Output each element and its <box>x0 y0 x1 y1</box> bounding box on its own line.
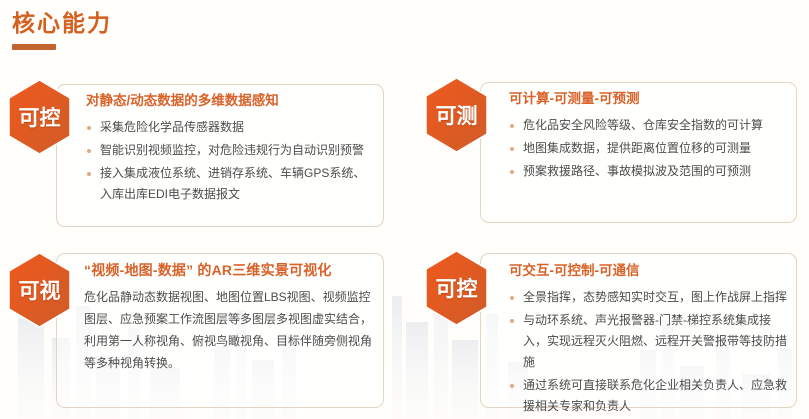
card-heading: 可交互-可控制-可通信 <box>509 262 794 280</box>
badge-label: 可测 <box>424 77 489 153</box>
page-title-block: 核心能力 <box>12 8 112 50</box>
card-bullet-list: 危化品安全风险等级、仓库安全指数的可计算 地图集成数据，提供距离位置位移的可测量… <box>509 115 791 182</box>
list-item: 采集危险化学品传感器数据 <box>86 117 376 138</box>
list-item: 危化品安全风险等级、仓库安全指数的可计算 <box>509 115 791 136</box>
card-content: 可交互-可控制-可通信 全景指挥，态势感知实时交互，图上作战屏上指挥 与动环系统… <box>509 262 794 419</box>
list-item: 全景指挥，态势感知实时交互，图上作战屏上指挥 <box>509 287 794 308</box>
card-heading: 可计算-可测量-可预测 <box>509 90 791 108</box>
list-item: 与动环系统、声光报警器-门禁-梯控系统集成接入，实现远程灭火阻燃、远程开关警报带… <box>509 310 794 373</box>
title-underline-rule <box>12 44 56 50</box>
badge-label: 可控 <box>424 250 489 326</box>
card-paragraph: 危化品静动态数据视图、地图位置LBS视图、视频监控图层、应急预案工作流图层等多图… <box>84 286 380 374</box>
card-bullet-list: 全景指挥，态势感知实时交互，图上作战屏上指挥 与动环系统、声光报警器-门禁-梯控… <box>509 287 794 417</box>
card-content: 对静态/动态数据的多维数据感知 采集危险化学品传感器数据 智能识别视频监控，对危… <box>86 92 376 207</box>
list-item: 通过系统可直接联系危化企业相关负责人、应急救援相关专家和负责人 <box>509 375 794 417</box>
page-title: 核心能力 <box>12 8 112 38</box>
card-content: 可计算-可测量-可预测 危化品安全风险等级、仓库安全指数的可计算 地图集成数据，… <box>509 90 791 184</box>
card-heading: 对静态/动态数据的多维数据感知 <box>86 92 376 110</box>
badge-label: 可控 <box>7 79 72 155</box>
card-content: “视频-地图-数据” 的AR三维实景可视化 危化品静动态数据视图、地图位置LBS… <box>84 261 380 374</box>
list-item: 接入集成液位系统、进销存系统、车辆GPS系统、入库出库EDI电子数据报文 <box>86 163 376 205</box>
list-item: 智能识别视频监控，对危险违规行为自动识别预警 <box>86 140 376 161</box>
card-heading: “视频-地图-数据” 的AR三维实景可视化 <box>84 261 380 279</box>
card-bullet-list: 采集危险化学品传感器数据 智能识别视频监控，对危险违规行为自动识别预警 接入集成… <box>86 117 376 205</box>
list-item: 预案救援路径、事故模拟波及范围的可预测 <box>509 161 791 182</box>
list-item: 地图集成数据，提供距离位置位移的可测量 <box>509 138 791 159</box>
badge-label: 可视 <box>7 252 72 328</box>
